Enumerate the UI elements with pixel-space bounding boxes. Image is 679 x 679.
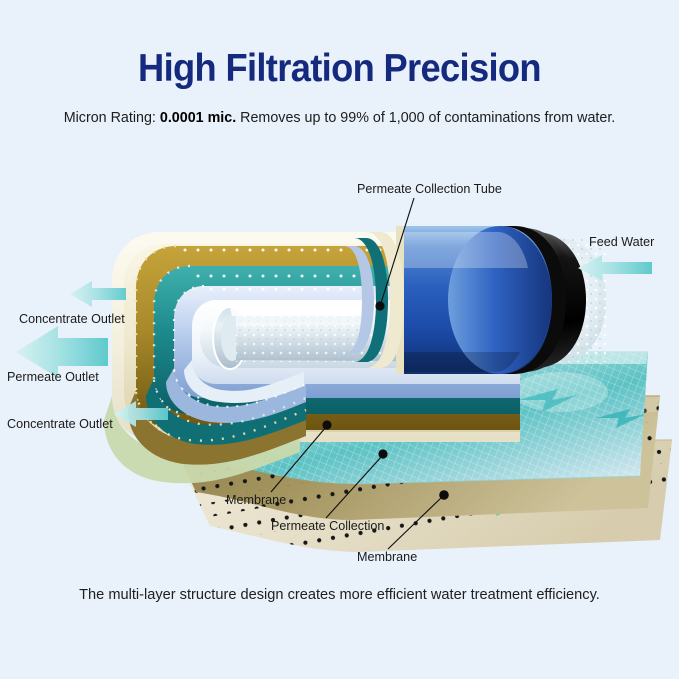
membrane-element-svg bbox=[0, 0, 679, 679]
label-permeate-outlet: Permeate Outlet bbox=[7, 371, 99, 384]
label-membrane-top: Membrane bbox=[226, 494, 286, 507]
label-feed-water: Feed Water bbox=[589, 236, 654, 249]
membrane-element-illustration bbox=[0, 0, 679, 679]
label-permeate-collection: Permeate Collection bbox=[271, 520, 384, 533]
infographic-page: High Filtration Precision Micron Rating:… bbox=[0, 0, 679, 679]
wound-membrane-body bbox=[396, 226, 606, 374]
label-concentrate-outlet-top: Concentrate Outlet bbox=[19, 313, 125, 326]
label-concentrate-outlet-bottom: Concentrate Outlet bbox=[7, 418, 113, 431]
label-membrane-bottom: Membrane bbox=[357, 551, 417, 564]
label-permeate-collection-tube: Permeate Collection Tube bbox=[357, 183, 502, 196]
footer-caption: The multi-layer structure design creates… bbox=[0, 587, 679, 603]
